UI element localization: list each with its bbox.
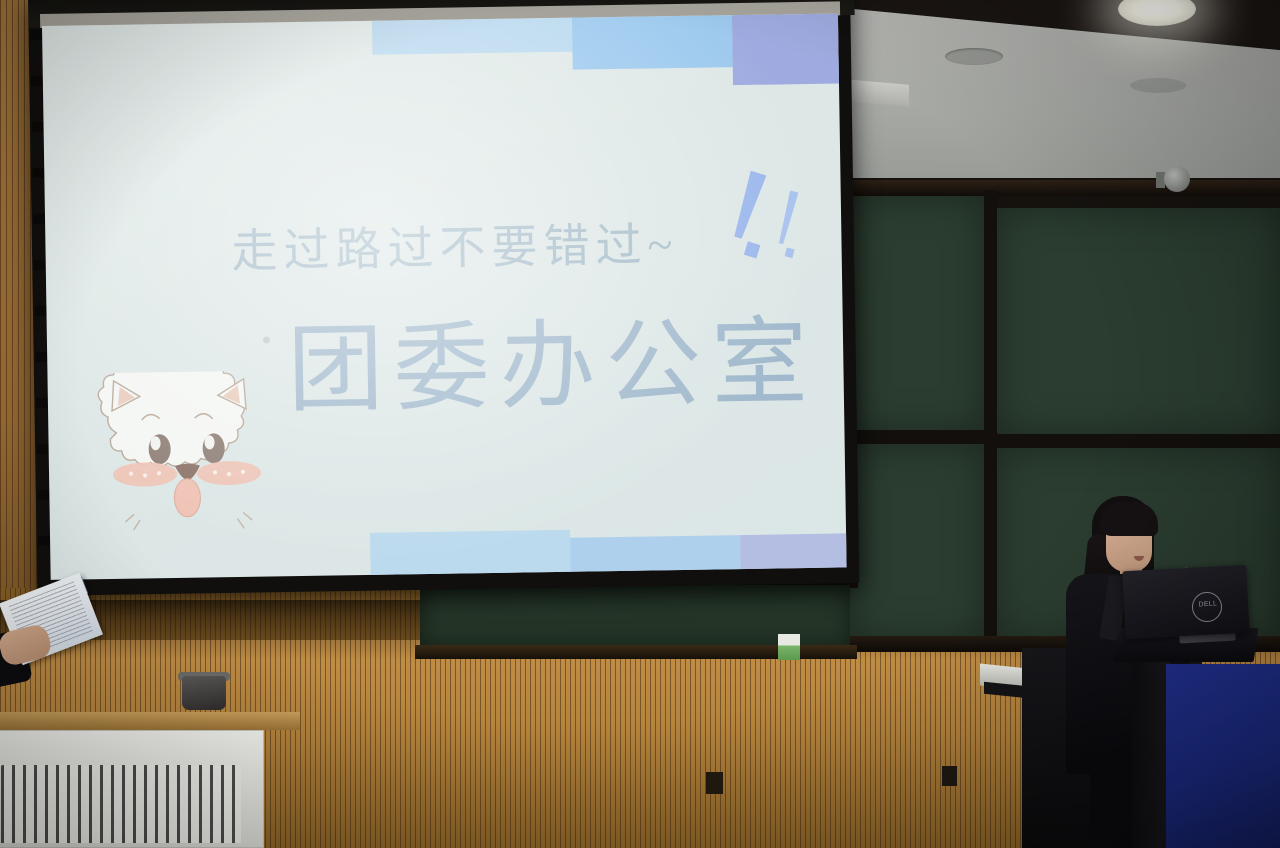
chalkboard-panel	[996, 208, 1280, 436]
slide-accent-bar	[570, 535, 741, 574]
radiator	[0, 730, 264, 848]
slide-title: 团委办公室	[286, 284, 818, 431]
slide-accent-bar	[740, 532, 847, 571]
exclamation-mark-icon	[694, 164, 816, 276]
wall-speaker-icon	[1164, 166, 1190, 192]
presentation-slide: 走过路过不要错过~ 团委办公室	[42, 13, 847, 579]
wall-ledge	[0, 712, 300, 730]
radiator-grille	[1, 765, 241, 843]
ceiling-light-off-icon	[1130, 78, 1186, 93]
presenter-fringe	[1100, 502, 1158, 536]
slide-accent-bar	[370, 530, 571, 577]
cup-on-ledge	[182, 676, 226, 710]
slide-subtitle: 走过路过不要错过~	[231, 208, 679, 281]
laptop-screen[interactable]	[1122, 565, 1249, 639]
ceiling-light-on-icon	[1118, 0, 1196, 26]
slide-accent-bar	[732, 13, 847, 85]
blackboard-divider	[996, 434, 1280, 448]
blackboard-top-rail	[838, 180, 1280, 196]
laptop-brand-label: DELL	[1193, 600, 1223, 609]
wall-outlet-icon	[706, 772, 723, 794]
chalkboard-panel	[848, 444, 984, 640]
ceiling-light-off-icon	[945, 48, 1003, 65]
slide-accent-bar	[372, 18, 573, 55]
blackboard-divider	[984, 190, 997, 648]
podium-front-panel: JILIN UNIVERSITY · CHINA 吉林大学	[1166, 664, 1280, 848]
chalkboard-panel	[848, 196, 984, 432]
lecture-hall-photo: 走过路过不要错过~ 团委办公室	[0, 0, 1280, 848]
chalk-box	[778, 634, 800, 660]
podium-side	[1132, 652, 1170, 848]
blackboard-divider	[848, 430, 984, 444]
wall-outlet-icon	[942, 766, 957, 786]
cat-mascot-icon	[81, 370, 294, 548]
slide-accent-bar	[572, 15, 733, 70]
slide-speck	[263, 336, 270, 343]
